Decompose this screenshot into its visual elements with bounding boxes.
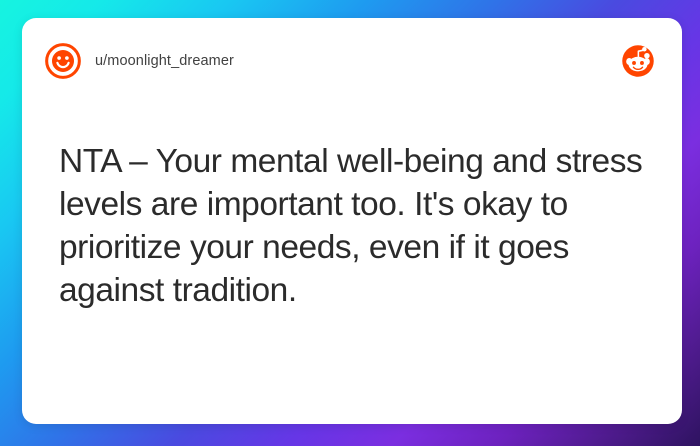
quote-text: NTA – Your mental well-being and stress … bbox=[59, 140, 648, 312]
gradient-background: u/moonlight_dreamer bbox=[0, 0, 700, 446]
reddit-quote-card: u/moonlight_dreamer bbox=[22, 18, 682, 424]
smiley-face-avatar-icon bbox=[44, 42, 82, 80]
card-header: u/moonlight_dreamer bbox=[38, 38, 656, 84]
reddit-snoo-logo-icon[interactable] bbox=[620, 43, 656, 79]
username-label: u/moonlight_dreamer bbox=[95, 53, 234, 69]
card-body: NTA – Your mental well-being and stress … bbox=[38, 84, 656, 424]
